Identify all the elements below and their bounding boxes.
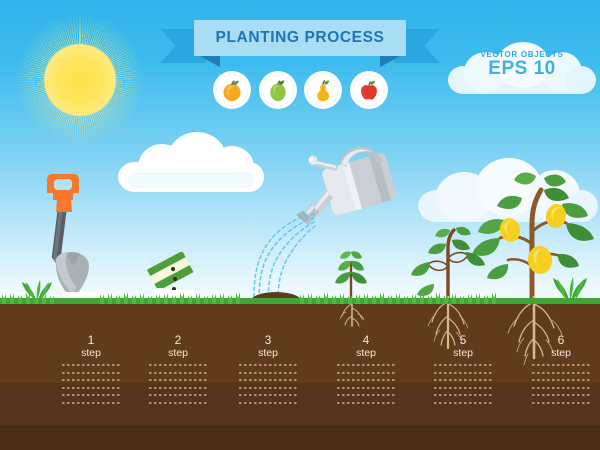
step-number: 1 <box>52 334 130 347</box>
eps-cloud-badge: VECTOR OBJECTS EPS 10 <box>452 44 592 92</box>
step-number: 2 <box>139 334 217 347</box>
step-label-row: 1 step 2 step 3 step 4 step <box>0 334 600 424</box>
step-placeholder-lines <box>229 364 307 404</box>
sun-icon <box>12 12 148 148</box>
step-word: step <box>229 347 307 359</box>
step-word: step <box>139 347 217 359</box>
apricot-icon <box>219 77 245 103</box>
grass-tuft-right <box>546 274 594 300</box>
apple-icon <box>356 77 382 103</box>
step-word: step <box>522 347 600 359</box>
banner-body: PLANTING PROCESS <box>194 20 406 56</box>
infographic-canvas: PLANTING PROCESS <box>0 0 600 450</box>
page-title: PLANTING PROCESS <box>216 29 385 47</box>
step-word: step <box>52 347 130 359</box>
fruit-badge-apple[interactable] <box>350 71 388 109</box>
step-placeholder-lines <box>424 364 502 404</box>
step-block-6: 6 step <box>522 334 600 409</box>
step-number: 3 <box>229 334 307 347</box>
fruit-badge-row <box>213 71 388 111</box>
step-block-2: 2 step <box>139 334 217 409</box>
grass-icon <box>0 292 600 300</box>
step-number: 5 <box>424 334 502 347</box>
lime-icon <box>265 77 291 103</box>
step-block-1: 1 step <box>52 334 130 409</box>
eps-version: EPS 10 <box>452 59 592 79</box>
step-block-3: 3 step <box>229 334 307 409</box>
grass-tuft-left <box>16 278 58 300</box>
banner-ribbon: PLANTING PROCESS <box>160 20 440 58</box>
soil-layer-bottom <box>0 425 600 450</box>
step-word: step <box>424 347 502 359</box>
sun-core <box>44 44 116 116</box>
step-placeholder-lines <box>522 364 600 404</box>
fruit-badge-lime[interactable] <box>259 71 297 109</box>
fruit-badge-pear[interactable] <box>304 71 342 109</box>
cloud-left <box>118 132 264 194</box>
pear-icon <box>310 77 336 103</box>
step-word: step <box>327 347 405 359</box>
step-block-4: 4 step <box>327 334 405 409</box>
step-placeholder-lines <box>327 364 405 404</box>
step-number: 4 <box>327 334 405 347</box>
fruit-badge-apricot[interactable] <box>213 71 251 109</box>
step-placeholder-lines <box>52 364 130 404</box>
step-block-5: 5 step <box>424 334 502 409</box>
step-placeholder-lines <box>139 364 217 404</box>
step-number: 6 <box>522 334 600 347</box>
